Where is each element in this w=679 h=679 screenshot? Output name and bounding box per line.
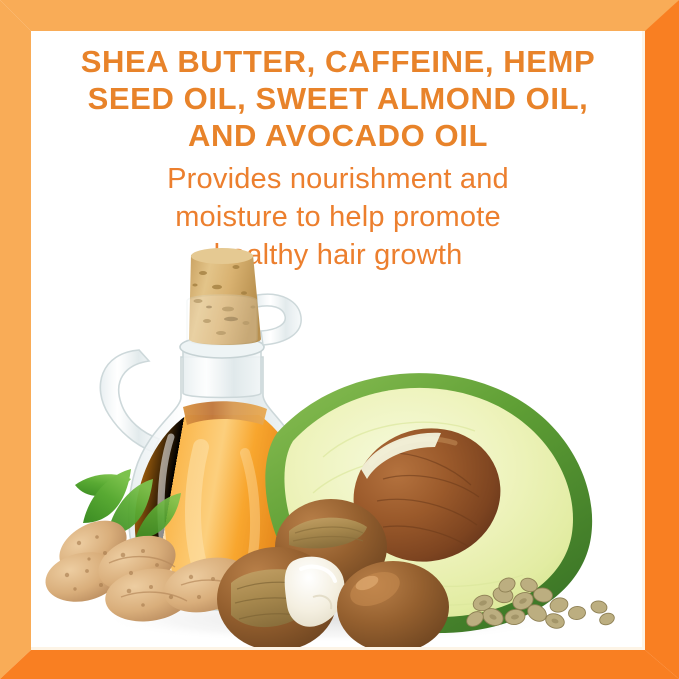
ingredient-photo: [31, 247, 645, 650]
subheading-line-1: Provides nourishment and: [61, 160, 615, 198]
headline-line-3: AND AVOCADO OIL: [37, 117, 639, 154]
headline: SHEA BUTTER, CAFFEINE, HEMP SEED OIL, SW…: [31, 43, 645, 154]
frame-edge-right: [645, 0, 679, 679]
cork-stopper: [187, 248, 261, 345]
frame-edge-top: [0, 0, 679, 31]
frame-edge-left: [0, 0, 31, 679]
text-block: SHEA BUTTER, CAFFEINE, HEMP SEED OIL, SW…: [31, 43, 645, 274]
headline-line-2: SEED OIL, SWEET ALMOND OIL,: [37, 80, 639, 117]
subheading-line-2: moisture to help promote: [61, 198, 615, 236]
ingredient-poster: SHEA BUTTER, CAFFEINE, HEMP SEED OIL, SW…: [0, 0, 679, 679]
poster-canvas: SHEA BUTTER, CAFFEINE, HEMP SEED OIL, SW…: [31, 31, 645, 650]
frame-edge-bottom: [0, 650, 679, 679]
headline-line-1: SHEA BUTTER, CAFFEINE, HEMP: [37, 43, 639, 80]
